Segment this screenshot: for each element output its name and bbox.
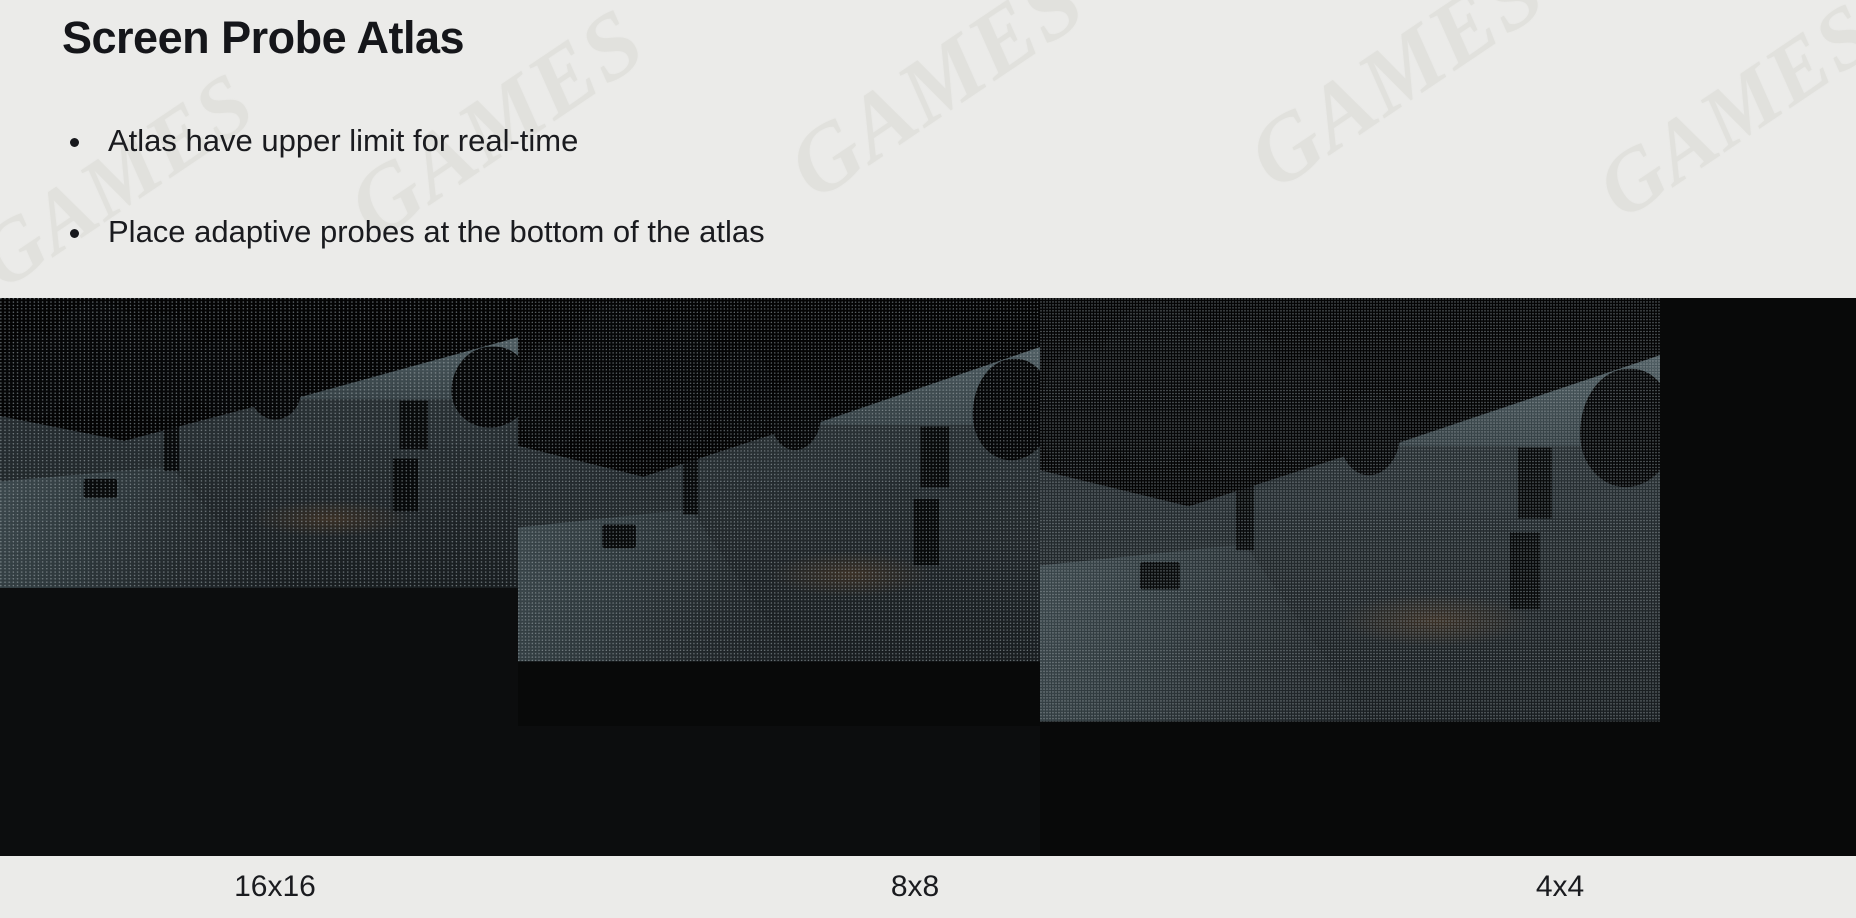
dark-window [1140,562,1180,590]
tree-silhouette [1340,393,1400,476]
caption-8x8: 8x8 [815,870,1015,904]
warm-accent [1340,594,1530,647]
bullet-text: Atlas have upper limit for real-time [108,122,578,159]
tree-silhouette [1272,357,1342,465]
dark-window [393,459,418,512]
warm-accent [771,552,931,598]
figure-panels [0,298,1856,856]
render-panel-16x16 [0,298,518,856]
dark-window [400,401,428,450]
dark-window [914,499,939,565]
tree-silhouette [251,363,301,420]
tree-silhouette [1188,324,1283,472]
watermark-text: GAMES [1579,0,1856,238]
dark-window [602,524,636,548]
tree-silhouette [771,379,822,450]
scene-content [1040,298,1660,722]
tree-silhouette [194,339,253,413]
render-image-4x4 [1040,298,1856,856]
bullet-text: Place adaptive probes at the bottom of t… [108,213,765,250]
page-title: Screen Probe Atlas [62,12,464,64]
slide-root: GAMES GAMES GAMES GAMES GAMES Screen Pro… [0,0,1856,918]
caption-16x16: 16x16 [175,870,375,904]
caption-4x4: 4x4 [1460,870,1660,904]
bullet-dot-icon [70,229,79,238]
tree-silhouette [124,316,203,417]
tree-silhouette [1040,347,1120,475]
dark-window [84,479,117,498]
warm-accent [251,501,410,537]
scene-content [518,298,1040,661]
dark-window [920,426,949,487]
tree-silhouette [0,332,67,420]
watermark-text: GAMES [769,0,1104,220]
atlas-empty-region [0,588,518,856]
tree-silhouette [643,320,723,447]
dark-window [1510,532,1540,609]
tree-silhouette [713,349,772,442]
watermark-text: GAMES [1229,0,1564,210]
caption-row: 16x16 8x8 4x4 [0,856,1856,918]
atlas-empty-region [518,726,1040,856]
scene-content [0,298,518,588]
bullet-list: Atlas have upper limit for real-time Pla… [70,122,765,304]
bullet-dot-icon [70,138,79,147]
render-panel-4x4 [1040,298,1856,856]
list-item: Atlas have upper limit for real-time [70,122,765,159]
tree-silhouette [518,340,585,450]
dark-window [1518,448,1552,519]
render-panel-8x8 [518,298,1040,856]
list-item: Place adaptive probes at the bottom of t… [70,213,765,250]
